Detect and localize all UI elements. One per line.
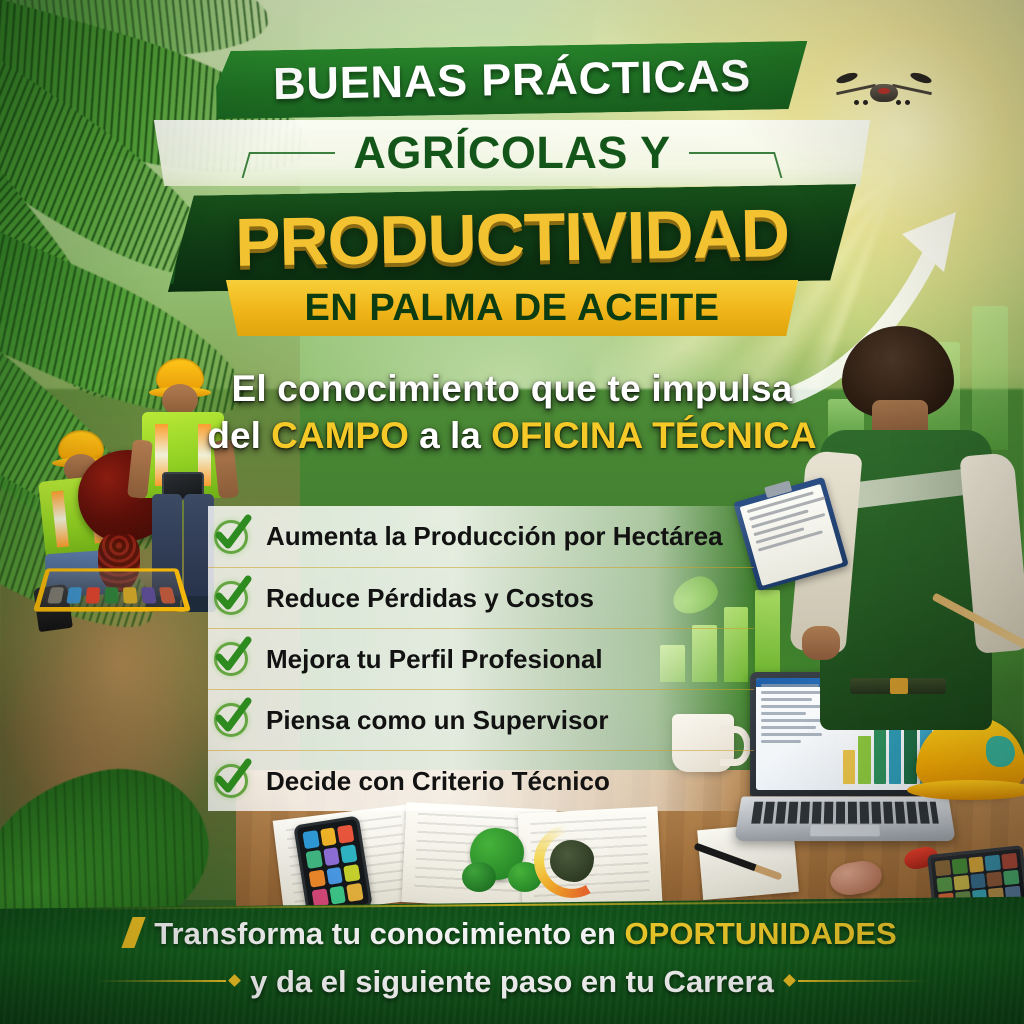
decorative-tick-left-icon [249,152,335,154]
benefit-label: Decide con Criterio Técnico [266,766,610,797]
title-block: BUENAS PRÁCTICAS AGRÍCOLAS Y PRODUCTIVID… [0,46,1024,336]
laptop-keyboard-icon [734,796,956,841]
cta-line1-highlight: OPORTUNIDADES [625,916,897,951]
subtitle-highlight-oficina: OFICINA TÉCNICA [491,415,816,456]
title-banner-line1: BUENAS PRÁCTICAS [215,41,808,119]
subtitle-line2: del CAMPO a la OFICINA TÉCNICA [0,415,1024,457]
smartphone-apps-icon [293,815,373,916]
slash-accent-icon [122,917,146,948]
subtitle-middle: a la [409,415,491,456]
benefit-row: Reduce Pérdidas y Costos [208,567,754,628]
check-circle-icon [212,518,250,556]
gauge-center-icon [550,840,594,882]
benefits-list: Aumenta la Producción por Hectárea Reduc… [208,506,754,811]
benefit-label: Aumenta la Producción por Hectárea [266,521,723,552]
subtitle-line1: El conocimiento que te impulsa [0,368,1024,410]
tool-crate-icon [33,568,191,611]
subtitle-block: El conocimiento que te impulsa del CAMPO… [0,368,1024,457]
check-circle-icon [212,701,250,739]
benefit-row: Aumenta la Producción por Hectárea [208,506,754,567]
title-banner-line4: EN PALMA DE ACEITE [214,280,810,336]
benefit-row: Piensa como un Supervisor [208,689,754,750]
cta-banner: Transforma tu conocimiento en OPORTUNIDA… [0,890,1024,1024]
title-banner-line2: AGRÍCOLAS Y [142,120,882,186]
benefit-label: Mejora tu Perfil Profesional [266,644,603,675]
benefit-row: Mejora tu Perfil Profesional [208,628,754,689]
subtitle-highlight-campo: CAMPO [271,415,409,456]
cta-line1-prefix: Transforma tu conocimiento en [154,916,624,951]
cta-line2: y da el siguiente paso en tu Carrera [0,964,1024,1000]
check-circle-icon [212,762,250,800]
subtitle-prefix: del [207,415,271,456]
title-banner-line3: PRODUCTIVIDAD [166,184,858,292]
cta-line1: Transforma tu conocimiento en OPORTUNIDA… [0,916,1024,952]
benefit-label: Reduce Pérdidas y Costos [266,583,594,614]
title-line2-text: AGRÍCOLAS Y [353,127,670,179]
benefit-label: Piensa como un Supervisor [266,705,608,736]
check-circle-icon [212,640,250,678]
check-circle-icon [212,579,250,617]
promotional-poster: BUENAS PRÁCTICAS AGRÍCOLAS Y PRODUCTIVID… [0,0,1024,1024]
cta-rule-right-icon [798,980,928,982]
title-line1-text: BUENAS PRÁCTICAS [273,50,752,110]
title-line3-text: PRODUCTIVIDAD [235,194,790,282]
certification-badge-icon [462,862,496,892]
benefit-row: Decide con Criterio Técnico [208,750,754,811]
title-line4-text: EN PALMA DE ACEITE [304,287,719,330]
decorative-tick-right-icon [689,152,775,154]
